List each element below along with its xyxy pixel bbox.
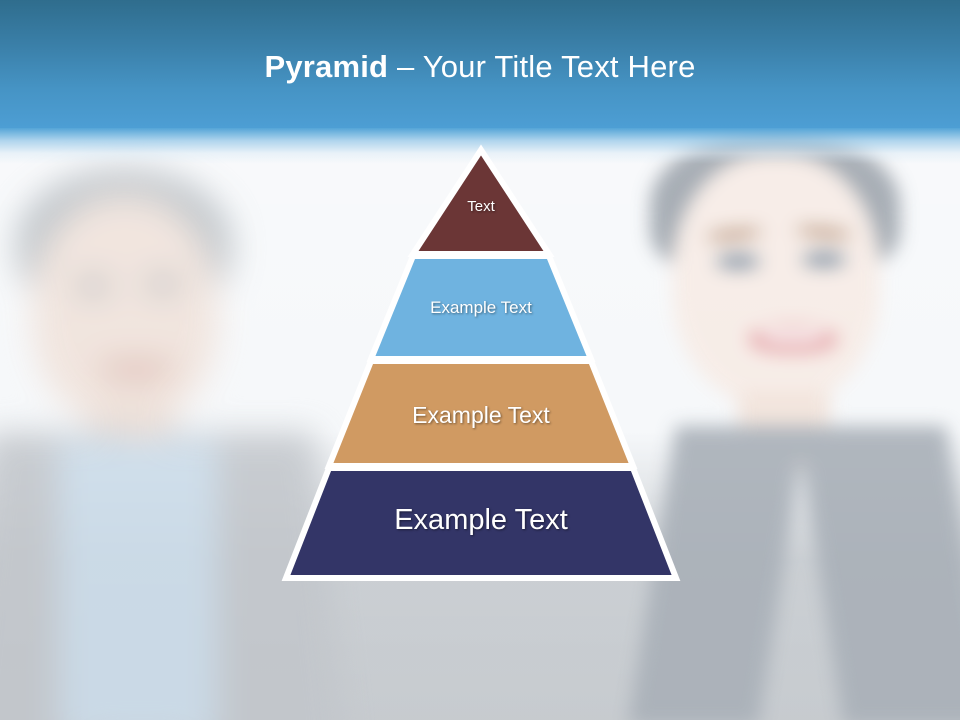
slide-canvas: Pyramid – Your Title Text Here Text Exam… [0, 0, 960, 720]
page-title: Pyramid – Your Title Text Here [0, 50, 960, 84]
pyramid-tier-2-shape[interactable] [371, 256, 591, 359]
pyramid-svg [228, 140, 734, 588]
page-title-rest: – Your Title Text Here [388, 49, 695, 84]
pyramid-tier-4-shape[interactable] [286, 468, 676, 578]
pyramid-diagram[interactable]: Text Example Text Example Text Example T… [228, 140, 734, 588]
pyramid-tier-3-shape[interactable] [329, 361, 633, 466]
page-title-bold: Pyramid [264, 49, 388, 84]
pyramid-tier-1-shape[interactable] [413, 150, 549, 254]
